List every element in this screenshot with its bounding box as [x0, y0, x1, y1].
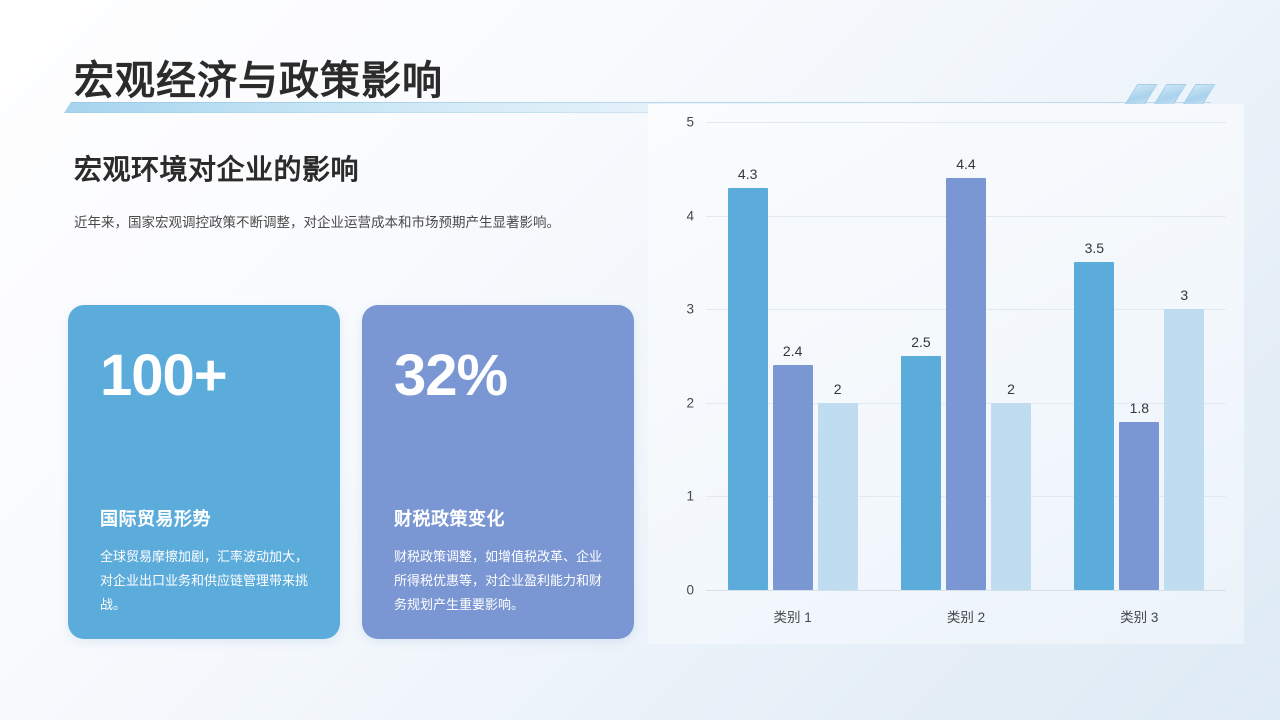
left-content-column: 宏观环境对企业的影响 近年来，国家宏观调控政策不断调整，对企业运营成本和市场预期…: [74, 148, 634, 236]
bar-chart-panel: 0123454.32.42类别 12.54.42类别 23.51.83类别 3: [648, 104, 1244, 644]
chart-bar[interactable]: [728, 188, 768, 590]
stat-card-body: 全球贸易摩擦加剧，汇率波动加大，对企业出口业务和供应链管理带来挑战。: [100, 545, 310, 617]
chart-bar-value-label: 2: [834, 381, 842, 397]
chart-bar[interactable]: [901, 356, 941, 590]
chart-bar-slot: 3: [1164, 122, 1204, 590]
page-title: 宏观经济与政策影响: [74, 48, 443, 106]
section-subtitle: 宏观环境对企业的影响: [74, 148, 634, 188]
chart-bar-slot: 2: [818, 122, 858, 590]
chart-bar-slot: 4.3: [728, 122, 768, 590]
chart-bar-value-label: 4.3: [738, 166, 757, 182]
stat-value: 100+: [100, 347, 310, 405]
x-axis-category-label: 类别 2: [947, 606, 985, 626]
chart-bar-slot: 1.8: [1119, 122, 1159, 590]
chart-group: 4.32.42类别 1: [706, 122, 879, 590]
chart-bar[interactable]: [1164, 309, 1204, 590]
y-axis-tick-label: 2: [686, 395, 694, 410]
stat-card-group: 100+ 国际贸易形势 全球贸易摩擦加剧，汇率波动加大，对企业出口业务和供应链管…: [68, 305, 634, 639]
stat-card-body: 财税政策调整，如增值税改革、企业所得税优惠等，对企业盈利能力和财务规划产生重要影…: [394, 545, 604, 617]
chart-bar-slot: 3.5: [1074, 122, 1114, 590]
chart-gridline: [706, 590, 1226, 591]
chart-group: 2.54.42类别 2: [879, 122, 1052, 590]
stat-card-tax-policy[interactable]: 32% 财税政策变化 财税政策调整，如增值税改革、企业所得税优惠等，对企业盈利能…: [362, 305, 634, 639]
chart-bar-value-label: 1.8: [1130, 400, 1149, 416]
lead-paragraph: 近年来，国家宏观调控政策不断调整，对企业运营成本和市场预期产生显著影响。: [74, 210, 622, 236]
chart-bar[interactable]: [1119, 422, 1159, 590]
slide-root: 宏观经济与政策影响 宏观环境对企业的影响 近年来，国家宏观调控政策不断调整，对企…: [0, 0, 1280, 720]
chart-bar[interactable]: [773, 365, 813, 590]
chart-plot-area: 0123454.32.42类别 12.54.42类别 23.51.83类别 3: [706, 122, 1226, 590]
chart-bar-slot: 2.4: [773, 122, 813, 590]
chart-bar-slot: 2.5: [901, 122, 941, 590]
chart-bar-value-label: 2.4: [783, 343, 802, 359]
chart-bar-value-label: 3.5: [1085, 240, 1104, 256]
y-axis-tick-label: 4: [686, 208, 694, 223]
stat-value: 32%: [394, 347, 604, 405]
chart-bar-groups: 4.32.42类别 12.54.42类别 23.51.83类别 3: [706, 122, 1226, 590]
x-axis-category-label: 类别 1: [774, 606, 812, 626]
chart-bar-value-label: 3: [1180, 287, 1188, 303]
chart-bar[interactable]: [946, 178, 986, 590]
chart-bar-slot: 2: [991, 122, 1031, 590]
chart-bar[interactable]: [818, 403, 858, 590]
stat-card-trade[interactable]: 100+ 国际贸易形势 全球贸易摩擦加剧，汇率波动加大，对企业出口业务和供应链管…: [68, 305, 340, 639]
stat-card-heading: 国际贸易形势: [100, 505, 310, 531]
chart-group: 3.51.83类别 3: [1053, 122, 1226, 590]
stat-card-heading: 财税政策变化: [394, 505, 604, 531]
y-axis-tick-label: 1: [686, 489, 694, 504]
chart-bar-slot: 4.4: [946, 122, 986, 590]
x-axis-category-label: 类别 3: [1120, 606, 1158, 626]
y-axis-tick-label: 3: [686, 302, 694, 317]
chart-bar-value-label: 2.5: [911, 334, 930, 350]
chart-bar-value-label: 4.4: [956, 156, 975, 172]
y-axis-tick-label: 5: [686, 115, 694, 130]
y-axis-tick-label: 0: [686, 583, 694, 598]
chart-bar[interactable]: [1074, 262, 1114, 590]
chart-bar-value-label: 2: [1007, 381, 1015, 397]
chart-bar[interactable]: [991, 403, 1031, 590]
